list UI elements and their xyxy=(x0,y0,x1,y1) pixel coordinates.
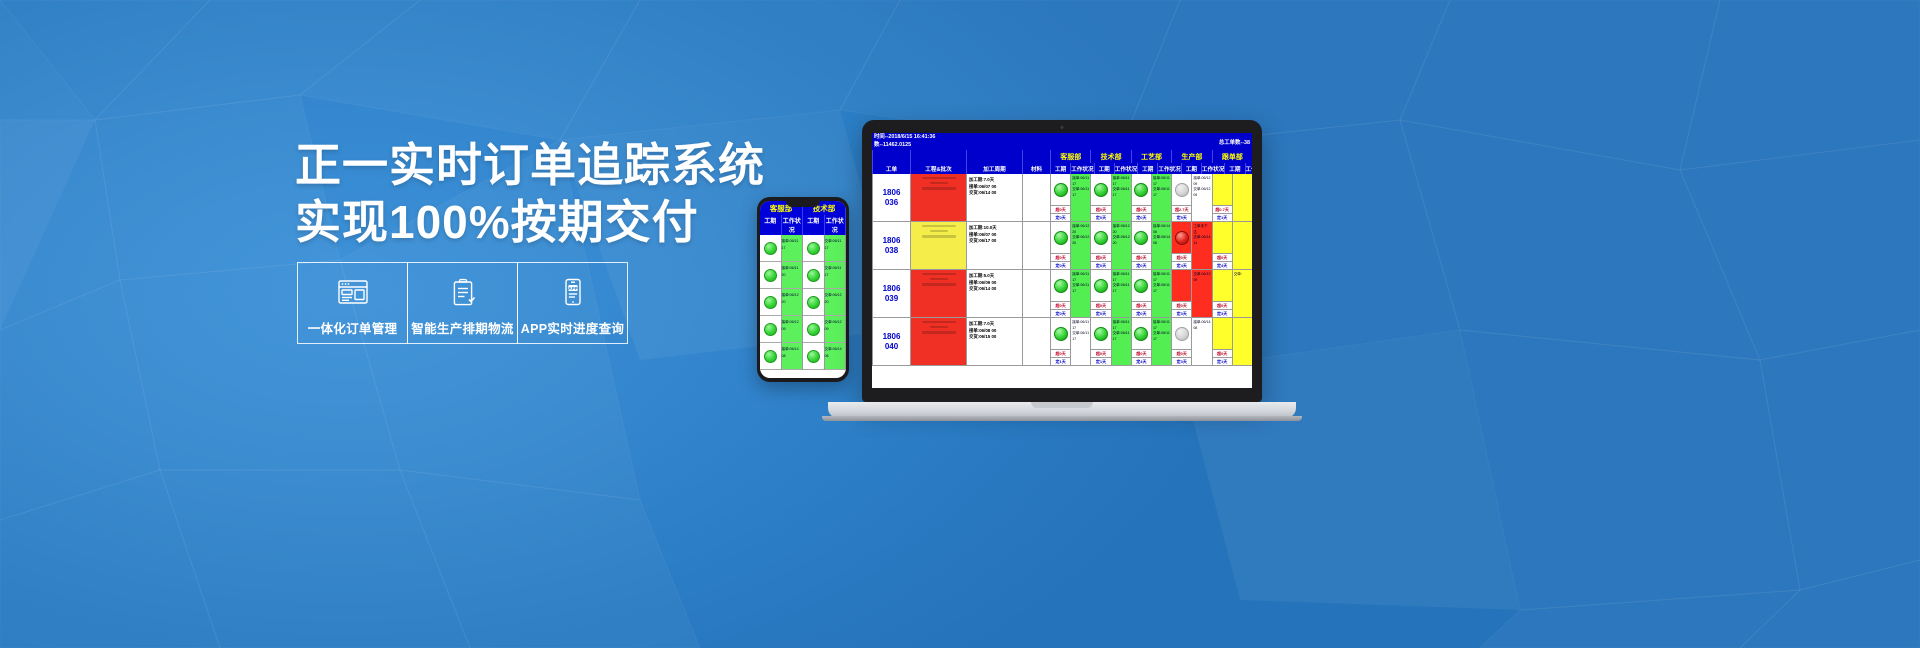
status-dot-green xyxy=(807,350,820,363)
redacted-text-line xyxy=(922,283,956,285)
status-note-1: 接单:06/11 17 xyxy=(1072,320,1089,331)
status-note-1: 接单:06/11 17 xyxy=(1153,320,1170,331)
phone-note: 接单:06/12 20 xyxy=(782,292,802,306)
cell-project-batch[interactable] xyxy=(910,318,966,366)
phone-note: 接单:06/11 20 xyxy=(782,265,802,279)
cell-duration-技术部[interactable]: 超0天定0天 xyxy=(1090,270,1110,318)
cell-work-status-生产部[interactable]: 交单:06/12 09 xyxy=(1191,270,1211,318)
cell-duration-生产部[interactable]: 超0天定4天 xyxy=(1171,222,1191,270)
status-note-2: 交单:06/11 17 xyxy=(1113,331,1130,342)
duration-indicator xyxy=(1132,270,1151,301)
work-status-wrap: 接单:06/11 17交单:06/11 17 xyxy=(1152,270,1171,317)
phone-note-cell[interactable]: 接单:06/11 20 xyxy=(782,262,803,289)
col-duration[interactable]: 工期 xyxy=(1224,163,1244,174)
status-dot-green xyxy=(1094,279,1108,293)
clipboard-icon xyxy=(446,275,480,309)
status-note-2: 交单:06/11 17 xyxy=(1072,283,1089,294)
phone-status-column-1 xyxy=(760,235,782,370)
phone-note-cell[interactable]: 交单:06/11 17 xyxy=(825,235,846,262)
status-dot-red xyxy=(1175,231,1189,245)
cell-duration-跟单部[interactable]: 超0天定1天 xyxy=(1212,318,1232,366)
status-note-2: 交单:06/11 17 xyxy=(1113,283,1130,294)
cell-work-status-工艺部[interactable]: 接单:06/11 17交单:06/11 17 xyxy=(1151,270,1171,318)
duration-indicator xyxy=(1051,270,1070,301)
duration-wrap: 超0天定1天 xyxy=(1091,318,1110,365)
phone-status-cell[interactable] xyxy=(803,343,824,370)
cell-material[interactable] xyxy=(1022,174,1050,222)
dept-customer-service[interactable]: 客服部 xyxy=(1050,150,1090,163)
duration-wrap: 超0天定1天 xyxy=(1213,318,1232,365)
order-no-bottom: 040 xyxy=(885,342,898,352)
overdue-days: 超0天 xyxy=(1132,349,1151,357)
cell-duration-客服部[interactable]: 超0天定0天 xyxy=(1050,174,1070,222)
work-status-indicator: 接单:06/11 17交单:06/11 17 xyxy=(1112,174,1131,221)
redacted-text-line xyxy=(922,235,956,237)
phone-status-cell[interactable] xyxy=(760,316,781,343)
overdue-days: 超0天 xyxy=(1132,205,1151,213)
phone-note-cell[interactable]: 接单:06/11 17 xyxy=(782,235,803,262)
cell-material[interactable] xyxy=(1022,318,1050,366)
cell-work-status-生产部[interactable]: 接单:06/14 08 xyxy=(1191,318,1211,366)
duration-indicator xyxy=(1132,318,1151,349)
redacted-text-line xyxy=(922,187,956,189)
duration-indicator xyxy=(1051,222,1070,253)
overdue-days: 超0天 xyxy=(1172,349,1191,357)
phone-note-cell[interactable]: 接单:06/12 09 xyxy=(782,316,803,343)
cycle-line-1: 加工期:5.0天 xyxy=(969,273,1020,280)
col-status[interactable]: 工作状况 xyxy=(1070,163,1093,174)
status-note-1: 交单:06/12 09 xyxy=(1193,272,1210,283)
cycle-line-1: 加工期:10.0天 xyxy=(969,225,1020,232)
col-status[interactable]: 工作状况 xyxy=(1157,163,1180,174)
cell-work-status-工艺部[interactable]: 接单:06/14 08交单:06/14 08 xyxy=(1151,222,1171,270)
overdue-days: 超0天 xyxy=(1132,301,1151,309)
status-dot-green xyxy=(1094,231,1108,245)
status-dot-green xyxy=(1054,327,1068,341)
cell-work-status-跟单部[interactable] xyxy=(1232,222,1252,270)
phone-column-header: 工期 工作状况 工期 工作状况 xyxy=(760,215,846,235)
table-row[interactable]: 1806038加工期:10.0天接单:06/07 00交货:06/17 00超0… xyxy=(872,222,1252,270)
phone-note-cell[interactable]: 交单:06/12 09 xyxy=(825,316,846,343)
status-note-1: 接单:06/14 08 xyxy=(1153,224,1170,235)
phone-note-cell[interactable]: 接单:06/14 08 xyxy=(782,343,803,370)
work-status-indicator xyxy=(1233,318,1252,365)
work-status-indicator: 接单:06/11 17交单:06/11 17 xyxy=(1152,318,1171,365)
cell-processing-cycle[interactable]: 加工期:5.0天接单:06/09 00交货:06/14 00 xyxy=(966,270,1022,318)
work-status-wrap xyxy=(1233,222,1252,269)
col-status[interactable]: 工作状况 xyxy=(1245,163,1253,174)
cycle-line-1: 加工期:7.0天 xyxy=(969,177,1020,184)
duration-wrap: 超0天定4天 xyxy=(1172,222,1191,269)
work-status-wrap: 接单:06/11 17交单:06/11 17 xyxy=(1071,174,1090,221)
status-note-2: 交单:06/11 17 xyxy=(1072,187,1089,198)
planned-days: 定0天 xyxy=(1051,261,1070,269)
duration-indicator xyxy=(1051,318,1070,349)
status-dot-green xyxy=(807,296,820,309)
planned-days: 定1天 xyxy=(1051,357,1070,365)
duration-indicator xyxy=(1091,174,1110,205)
dept-merchandising[interactable]: 跟单部 xyxy=(1212,150,1252,163)
cell-duration-技术部[interactable]: 超0天定1天 xyxy=(1090,318,1110,366)
phone-mockup: 客服部 技术部 工期 工作状况 工期 工作状况 接单: xyxy=(757,197,849,382)
feature-label: 一体化订单管理 xyxy=(308,318,398,337)
cell-processing-cycle[interactable]: 加工期:7.0天接单:06/07 00交货:06/14 00 xyxy=(966,174,1022,222)
overdue-days: 超0天 xyxy=(1051,349,1070,357)
meta-total-orders: 总工单数--38 xyxy=(1219,138,1250,146)
status-dot-green xyxy=(1054,231,1068,245)
cell-duration-工艺部[interactable]: 超0天定0天 xyxy=(1131,222,1151,270)
planned-days: 定0天 xyxy=(1051,213,1070,221)
phone-note-cell[interactable]: 接单:06/12 20 xyxy=(782,289,803,316)
dept-process[interactable]: 工艺部 xyxy=(1131,150,1171,163)
status-note-2: 交单:06/12 20 xyxy=(1113,235,1130,246)
status-dot-green xyxy=(764,350,777,363)
phone-col: 工期 xyxy=(760,215,782,235)
status-note-1: 接单:06/11 17 xyxy=(1113,320,1130,331)
phone-status-cell[interactable] xyxy=(803,289,824,316)
work-status-wrap: 接单:06/11 17交单:06/11 17 xyxy=(1071,318,1090,365)
order-no-bottom: 039 xyxy=(885,294,898,304)
overdue-days: 超0.7天 xyxy=(1213,205,1232,213)
phone-note: 交单:06/11 17 xyxy=(825,238,845,252)
cell-order-no[interactable]: 1806038 xyxy=(872,222,910,270)
cell-material[interactable] xyxy=(1022,270,1050,318)
svg-text:APP: APP xyxy=(568,286,577,291)
work-status-wrap: 接单:06/11 17交单:06/11 17 xyxy=(1152,318,1171,365)
order-no-bottom: 038 xyxy=(885,246,898,256)
duration-wrap: 超0天定3天 xyxy=(1172,318,1191,365)
work-status-wrap xyxy=(1233,318,1252,365)
phone-status-cell[interactable] xyxy=(760,262,781,289)
status-dot-green xyxy=(764,296,777,309)
planned-days: 定4天 xyxy=(1213,261,1232,269)
planned-days: 定3天 xyxy=(1172,357,1191,365)
duration-wrap: 超0天定4天 xyxy=(1132,318,1151,365)
duration-indicator xyxy=(1213,318,1232,349)
duration-indicator xyxy=(1091,318,1110,349)
phone-note-cell[interactable]: 交单:06/14 08 xyxy=(825,343,846,370)
work-status-indicator: 接单:06/12 09交单:06/12 09 xyxy=(1192,174,1211,221)
status-note-1: 接单:06/11 17 xyxy=(1113,176,1130,187)
duration-wrap: 超0天定3天 xyxy=(1172,270,1191,317)
overdue-days: 超0天 xyxy=(1132,253,1151,261)
cell-work-status-跟单部[interactable]: 交单: xyxy=(1232,270,1252,318)
duration-wrap: 超0天定0天 xyxy=(1091,222,1110,269)
cell-duration-生产部[interactable]: 超0天定3天 xyxy=(1171,318,1191,366)
status-dot-green xyxy=(764,269,777,282)
status-note-1: 工单未下达 xyxy=(1193,224,1210,235)
phone-status-cell[interactable] xyxy=(760,289,781,316)
status-note-1: 接单:06/11 17 xyxy=(1072,272,1089,283)
redacted-text-line xyxy=(922,225,956,227)
feature-label: 智能生产排期物流 xyxy=(411,318,513,337)
cell-project-batch[interactable] xyxy=(910,174,966,222)
duration-indicator xyxy=(1213,222,1232,253)
status-note-2: 交单:06/11 17 xyxy=(1072,331,1089,342)
col-status[interactable]: 工作状况 xyxy=(1114,163,1137,174)
planned-days: 定0天 xyxy=(1091,309,1110,317)
order-no-top: 1806 xyxy=(883,236,901,246)
status-dot-green xyxy=(1134,231,1148,245)
cell-order-no[interactable]: 1806040 xyxy=(872,318,910,366)
duration-wrap: 超0天定3天 xyxy=(1213,270,1232,317)
status-note-1: 接单:06/12 09 xyxy=(1193,176,1210,187)
cycle-line-3: 交货:06/14 00 xyxy=(969,190,1020,197)
status-dot-green xyxy=(1134,183,1148,197)
cell-work-status-客服部[interactable]: 接单:06/11 17交单:06/11 17 xyxy=(1070,270,1090,318)
meta-value: 数--11462.0125 xyxy=(874,142,935,150)
work-status-indicator: 接单:06/11 17交单:06/11 17 xyxy=(1071,174,1090,221)
duration-indicator xyxy=(1091,270,1110,301)
redacted-text-line xyxy=(922,177,956,179)
cell-duration-客服部[interactable]: 超0天定0天 xyxy=(1050,222,1070,270)
col-duration[interactable]: 工期 xyxy=(1137,163,1157,174)
work-status-wrap: 接单:06/14 08 xyxy=(1192,318,1211,365)
col-status[interactable]: 工作状况 xyxy=(1201,163,1224,174)
overdue-days: 超2.7天 xyxy=(1172,205,1191,213)
overdue-days: 超0天 xyxy=(1051,253,1070,261)
duration-indicator xyxy=(1172,222,1191,253)
cell-duration-工艺部[interactable]: 超0天定0天 xyxy=(1131,174,1151,222)
duration-wrap: 超0天定0天 xyxy=(1051,270,1070,317)
duration-indicator xyxy=(1132,174,1151,205)
work-status-wrap: 交单: xyxy=(1233,270,1252,317)
status-note-2: 交单:06/14 14 xyxy=(1193,235,1210,246)
laptop-mockup: 时间--2018/6/15 16:41:36 数--11462.0125 总工单… xyxy=(862,120,1332,420)
overdue-days: 超0天 xyxy=(1213,301,1232,309)
planned-days: 定0天 xyxy=(1091,261,1110,269)
cell-project-batch[interactable] xyxy=(910,270,966,318)
planned-days: 定1天 xyxy=(1091,357,1110,365)
work-status-wrap: 接单:06/12 09交单:06/12 09 xyxy=(1192,174,1211,221)
phone-note: 接单:06/11 17 xyxy=(782,238,802,252)
work-status-indicator: 接单:06/14 08交单:06/14 08 xyxy=(1152,222,1171,269)
duration-wrap: 超0天定0天 xyxy=(1051,174,1070,221)
cell-duration-工艺部[interactable]: 超0天定4天 xyxy=(1131,318,1151,366)
duration-wrap: 超0天定0天 xyxy=(1132,270,1151,317)
feature-box-app-progress-query[interactable]: APP APP实时进度查询 xyxy=(517,262,628,344)
work-status-indicator: 接单:06/11 17交单:06/11 17 xyxy=(1112,318,1131,365)
cell-duration-生产部[interactable]: 超0天定3天 xyxy=(1171,270,1191,318)
column-header-row: 工单 工程&批次 加工周期 材料 工期 工作状况 工期 工作状况 工期 工作状况… xyxy=(872,163,1252,174)
order-no-top: 1806 xyxy=(883,284,901,294)
phone-col: 工作状况 xyxy=(825,215,847,235)
work-status-indicator: 接单:06/11 17交单:06/11 17 xyxy=(1152,174,1171,221)
phone-status-cell[interactable] xyxy=(803,235,824,262)
phone-note-cell[interactable]: 交单:06/11 17 xyxy=(825,262,846,289)
dashboard-window-icon xyxy=(336,275,370,309)
cell-duration-客服部[interactable]: 超0天定0天 xyxy=(1050,270,1070,318)
cell-duration-工艺部[interactable]: 超0天定0天 xyxy=(1131,270,1151,318)
work-status-indicator: 接单:06/11 17交单:06/11 17 xyxy=(1071,318,1090,365)
overdue-days: 超0天 xyxy=(1213,253,1232,261)
phone-note: 交单:06/12 20 xyxy=(825,292,845,306)
dept-production[interactable]: 生产部 xyxy=(1171,150,1211,163)
order-no-bottom: 036 xyxy=(885,198,898,208)
cell-work-status-客服部[interactable]: 接单:06/11 17交单:06/11 17 xyxy=(1070,174,1090,222)
phone-note-column-1: 接单:06/11 17 接单:06/11 20 接单:06/12 20 接单:0… xyxy=(782,235,804,370)
duration-indicator xyxy=(1213,270,1232,301)
duration-wrap: 超2.7天定5天 xyxy=(1172,174,1191,221)
dept-spacer xyxy=(1022,150,1050,163)
duration-wrap: 超0天定0天 xyxy=(1132,222,1151,269)
phone-note-cell[interactable]: 交单:06/12 20 xyxy=(825,289,846,316)
work-status-indicator: 接单:06/14 08 xyxy=(1192,318,1211,365)
col-duration[interactable]: 工期 xyxy=(1050,163,1070,174)
planned-days: 定3天 xyxy=(1172,309,1191,317)
department-header-row: 客服部 技术部 工艺部 生产部 跟单部 xyxy=(872,150,1252,163)
feature-box-production-scheduling[interactable]: 智能生产排期物流 xyxy=(407,262,518,344)
status-dot-green xyxy=(764,323,777,336)
phone-status-cell[interactable] xyxy=(760,343,781,370)
planned-days: 定4天 xyxy=(1172,261,1191,269)
cell-work-status-跟单部[interactable] xyxy=(1232,174,1252,222)
cell-duration-生产部[interactable]: 超2.7天定5天 xyxy=(1171,174,1191,222)
cell-work-status-技术部[interactable]: 接单:06/11 17交单:06/11 17 xyxy=(1111,174,1131,222)
work-status-wrap: 工单未下达交单:06/14 14 xyxy=(1192,222,1211,269)
planned-days: 定0天 xyxy=(1132,213,1151,221)
cell-order-no[interactable]: 1806036 xyxy=(872,174,910,222)
redacted-text-line xyxy=(930,182,948,184)
feature-box-order-management[interactable]: 一体化订单管理 xyxy=(297,262,408,344)
cycle-line-3: 交货:06/17 00 xyxy=(969,238,1020,245)
cell-duration-客服部[interactable]: 超0天定1天 xyxy=(1050,318,1070,366)
cycle-line-1: 加工期:7.0天 xyxy=(969,321,1020,328)
planned-days: 定1天 xyxy=(1213,213,1232,221)
col-duration[interactable]: 工期 xyxy=(1181,163,1201,174)
work-status-indicator: 交单:06/12 09 xyxy=(1192,270,1211,317)
cell-work-status-生产部[interactable]: 接单:06/12 09交单:06/12 09 xyxy=(1191,174,1211,222)
duration-wrap: 超0天定4天 xyxy=(1213,222,1232,269)
phone-notch xyxy=(786,200,820,207)
cell-processing-cycle[interactable]: 加工期:7.0天接单:06/08 00交货:06/15 00 xyxy=(966,318,1022,366)
duration-indicator xyxy=(1132,222,1151,253)
phone-col: 工作状况 xyxy=(782,215,804,235)
table-row[interactable]: 1806039加工期:5.0天接单:06/09 00交货:06/14 00超0天… xyxy=(872,270,1252,318)
laptop-screen: 时间--2018/6/15 16:41:36 数--11462.0125 总工单… xyxy=(872,133,1252,388)
phone-note: 交单:06/12 09 xyxy=(825,319,845,333)
status-dot-grey xyxy=(1175,183,1189,197)
col-order-no[interactable]: 工单 xyxy=(872,163,910,174)
cell-duration-跟单部[interactable]: 超0.7天定1天 xyxy=(1212,174,1232,222)
table-meta-bar: 时间--2018/6/15 16:41:36 数--11462.0125 总工单… xyxy=(872,133,1252,150)
dept-spacer xyxy=(872,150,910,163)
col-project[interactable]: 工程&批次 xyxy=(910,163,966,174)
work-status-wrap: 接单:06/14 08交单:06/14 08 xyxy=(1152,222,1171,269)
promo-banner: 正一实时订单追踪系统 实现100%按期交付 一体化订单管理 xyxy=(0,0,1920,648)
cell-material[interactable] xyxy=(1022,222,1050,270)
status-note-2: 交单:06/11 17 xyxy=(1153,187,1170,198)
status-note-1: 接单:06/11 17 xyxy=(1153,176,1170,187)
cell-work-status-跟单部[interactable] xyxy=(1232,318,1252,366)
duration-indicator xyxy=(1091,222,1110,253)
phone-status-cell[interactable] xyxy=(760,235,781,262)
status-note-2: 交单:06/12 20 xyxy=(1072,235,1089,246)
phone-status-cell[interactable] xyxy=(803,262,824,289)
phone-status-cell[interactable] xyxy=(803,316,824,343)
col-duration[interactable]: 工期 xyxy=(1094,163,1114,174)
work-status-wrap: 接单:06/12 20交单:06/12 20 xyxy=(1071,222,1090,269)
cell-duration-技术部[interactable]: 超0天定0天 xyxy=(1090,222,1110,270)
status-dot-green xyxy=(1134,327,1148,341)
table-row[interactable]: 1806040加工期:7.0天接单:06/08 00交货:06/15 00超0天… xyxy=(872,318,1252,366)
redacted-text-line xyxy=(922,321,956,323)
planned-days: 定1天 xyxy=(1213,357,1232,365)
duration-wrap: 超0天定0天 xyxy=(1091,174,1110,221)
overdue-days: 超0天 xyxy=(1172,301,1191,309)
cell-duration-跟单部[interactable]: 超0天定4天 xyxy=(1212,222,1232,270)
overdue-days: 超0天 xyxy=(1213,349,1232,357)
planned-days: 定0天 xyxy=(1132,309,1151,317)
cell-work-status-工艺部[interactable]: 接单:06/11 17交单:06/11 17 xyxy=(1151,318,1171,366)
webcam-icon xyxy=(1061,126,1064,129)
laptop-lid: 时间--2018/6/15 16:41:36 数--11462.0125 总工单… xyxy=(862,120,1262,402)
overdue-days: 超0天 xyxy=(1091,253,1110,261)
status-note-2: 交单:06/14 08 xyxy=(1153,235,1170,246)
cell-work-status-客服部[interactable]: 接单:06/12 20交单:06/12 20 xyxy=(1070,222,1090,270)
status-note-1: 交单: xyxy=(1234,272,1251,278)
cell-order-no[interactable]: 1806039 xyxy=(872,270,910,318)
phone-note: 交单:06/11 17 xyxy=(825,265,845,279)
laptop-foot xyxy=(822,416,1302,421)
cell-work-status-客服部[interactable]: 接单:06/11 17交单:06/11 17 xyxy=(1070,318,1090,366)
cell-project-batch[interactable] xyxy=(910,222,966,270)
work-status-wrap: 接单:06/12 20交单:06/12 20 xyxy=(1112,222,1131,269)
phone-status-column-2 xyxy=(803,235,825,370)
status-dot-green xyxy=(1094,183,1108,197)
cell-processing-cycle[interactable]: 加工期:10.0天接单:06/07 00交货:06/17 00 xyxy=(966,222,1022,270)
work-status-indicator: 工单未下达交单:06/14 14 xyxy=(1192,222,1211,269)
work-status-wrap: 接单:06/11 17交单:06/11 17 xyxy=(1071,270,1090,317)
redacted-text-line xyxy=(930,326,948,328)
work-status-wrap xyxy=(1233,174,1252,221)
planned-days: 定0天 xyxy=(1051,309,1070,317)
status-dot-green xyxy=(1054,279,1068,293)
duration-indicator xyxy=(1172,318,1191,349)
cell-work-status-工艺部[interactable]: 接单:06/11 17交单:06/11 17 xyxy=(1151,174,1171,222)
col-cycle[interactable]: 加工周期 xyxy=(966,163,1022,174)
status-dot-grey xyxy=(1175,327,1189,341)
overdue-days: 超0天 xyxy=(1091,349,1110,357)
status-dot-green xyxy=(807,269,820,282)
col-material[interactable]: 材料 xyxy=(1022,163,1050,174)
cell-work-status-技术部[interactable]: 接单:06/11 17交单:06/11 17 xyxy=(1111,270,1131,318)
status-note-1: 接单:06/12 20 xyxy=(1113,224,1130,235)
work-status-indicator: 接单:06/11 17交单:06/11 17 xyxy=(1071,270,1090,317)
overdue-days: 超0天 xyxy=(1051,301,1070,309)
cell-work-status-生产部[interactable]: 工单未下达交单:06/14 14 xyxy=(1191,222,1211,270)
phone-table-body: 接单:06/11 17 接单:06/11 20 接单:06/12 20 接单:0… xyxy=(760,235,846,370)
duration-wrap: 超0天定0天 xyxy=(1051,222,1070,269)
cell-duration-技术部[interactable]: 超0天定0天 xyxy=(1090,174,1110,222)
planned-days: 定3天 xyxy=(1213,309,1232,317)
duration-wrap: 超0天定0天 xyxy=(1132,174,1151,221)
table-row[interactable]: 1806036加工期:7.0天接单:06/07 00交货:06/14 00超0天… xyxy=(872,174,1252,222)
dept-technology[interactable]: 技术部 xyxy=(1090,150,1130,163)
status-dot-green xyxy=(1054,183,1068,197)
order-no-top: 1806 xyxy=(883,188,901,198)
work-status-indicator: 接单:06/11 17交单:06/11 17 xyxy=(1152,270,1171,317)
planned-days: 定0天 xyxy=(1091,213,1110,221)
work-status-wrap: 交单:06/12 09 xyxy=(1192,270,1211,317)
cell-duration-跟单部[interactable]: 超0天定3天 xyxy=(1212,270,1232,318)
cell-work-status-技术部[interactable]: 接单:06/12 20交单:06/12 20 xyxy=(1111,222,1131,270)
planned-days: 定5天 xyxy=(1172,213,1191,221)
status-note-1: 接单:06/11 17 xyxy=(1153,272,1170,283)
dept-spacer xyxy=(910,150,966,163)
duration-indicator xyxy=(1051,174,1070,205)
cell-work-status-技术部[interactable]: 接单:06/11 17交单:06/11 17 xyxy=(1111,318,1131,366)
